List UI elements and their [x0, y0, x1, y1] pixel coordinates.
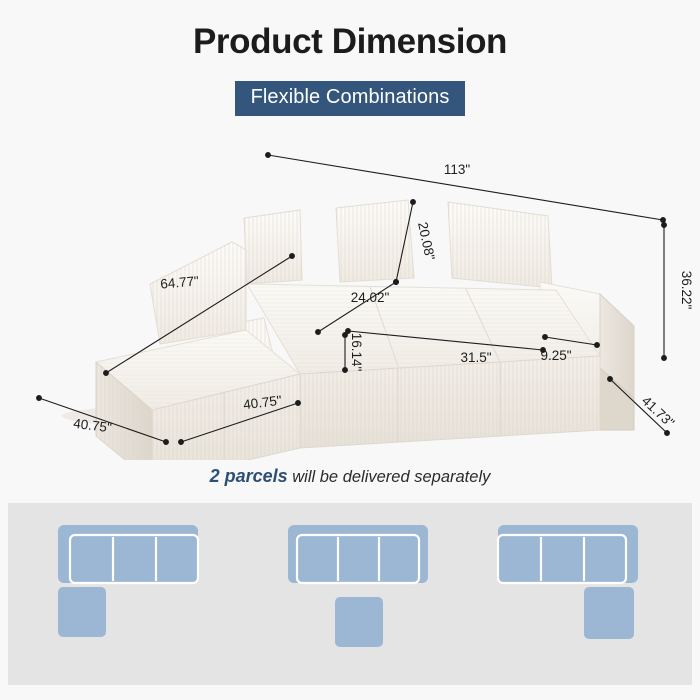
parcel-count: 2 parcels [210, 466, 288, 486]
dimension-label-back-height: 20.08" [415, 221, 438, 262]
flexible-combinations-badge: Flexible Combinations [235, 81, 466, 116]
page-title: Product Dimension [0, 22, 700, 62]
diagram-ottoman-center [270, 503, 460, 685]
diagram-chaise-right [480, 503, 670, 685]
configuration-option-3[interactable] [480, 503, 670, 685]
configuration-option-1[interactable] [40, 503, 230, 685]
sofa-drawing: 113" 36.22" 20.08" 24.02" 16.14" 31.5" 9… [0, 130, 700, 460]
dimension-label-seat-height: 16.14" [349, 333, 364, 372]
dimension-label-overall-height: 36.22" [679, 271, 694, 310]
dimension-label-seat-width: 31.5" [460, 350, 491, 365]
diagram-chaise-left [40, 503, 230, 685]
configuration-option-2[interactable] [270, 503, 460, 685]
configuration-panel [8, 503, 692, 685]
badge-container: Flexible Combinations [0, 81, 700, 116]
dimension-label-overall-width: 113" [444, 162, 471, 177]
parcel-note: will be delivered separately [288, 468, 491, 486]
parcel-caption: 2 parcels will be delivered separately [0, 466, 700, 487]
product-dimension-infographic: Product Dimension Flexible Combinations [0, 0, 700, 700]
sofa-illustration: 113" 36.22" 20.08" 24.02" 16.14" 31.5" 9… [0, 130, 700, 460]
dimension-label-seat-depth: 24.02" [351, 290, 390, 305]
dimension-label-arm-width: 9.25" [540, 348, 571, 363]
